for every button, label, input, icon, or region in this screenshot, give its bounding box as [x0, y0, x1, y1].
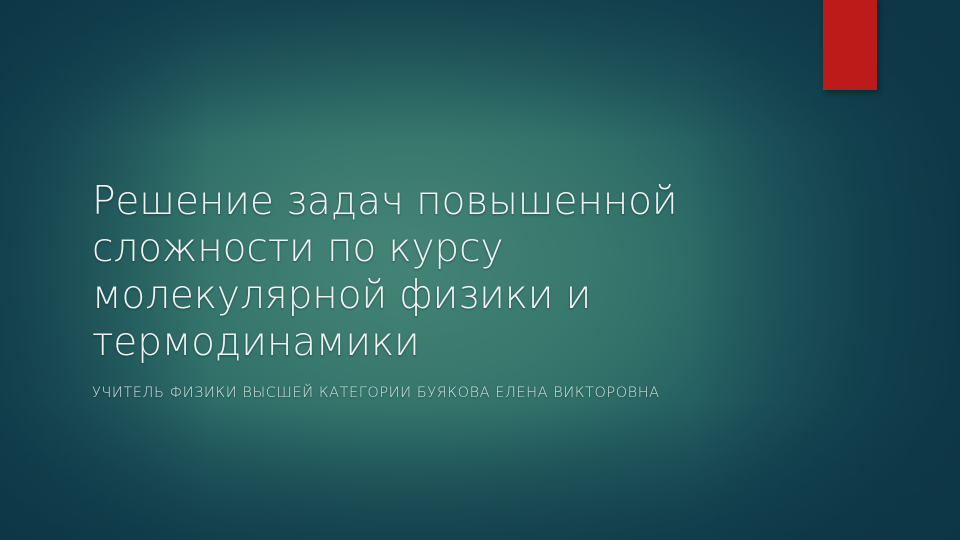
slide-subtitle: Учитель физики высшей категории Буякова …: [92, 366, 677, 407]
presentation-slide: Решение задач повышенной сложности по ку…: [0, 0, 960, 540]
red-accent-rectangle: [823, 0, 877, 90]
slide-text-block: Решение задач повышенной сложности по ку…: [92, 178, 732, 407]
page-title: Решение задач повышенной сложности по ку…: [92, 178, 732, 366]
